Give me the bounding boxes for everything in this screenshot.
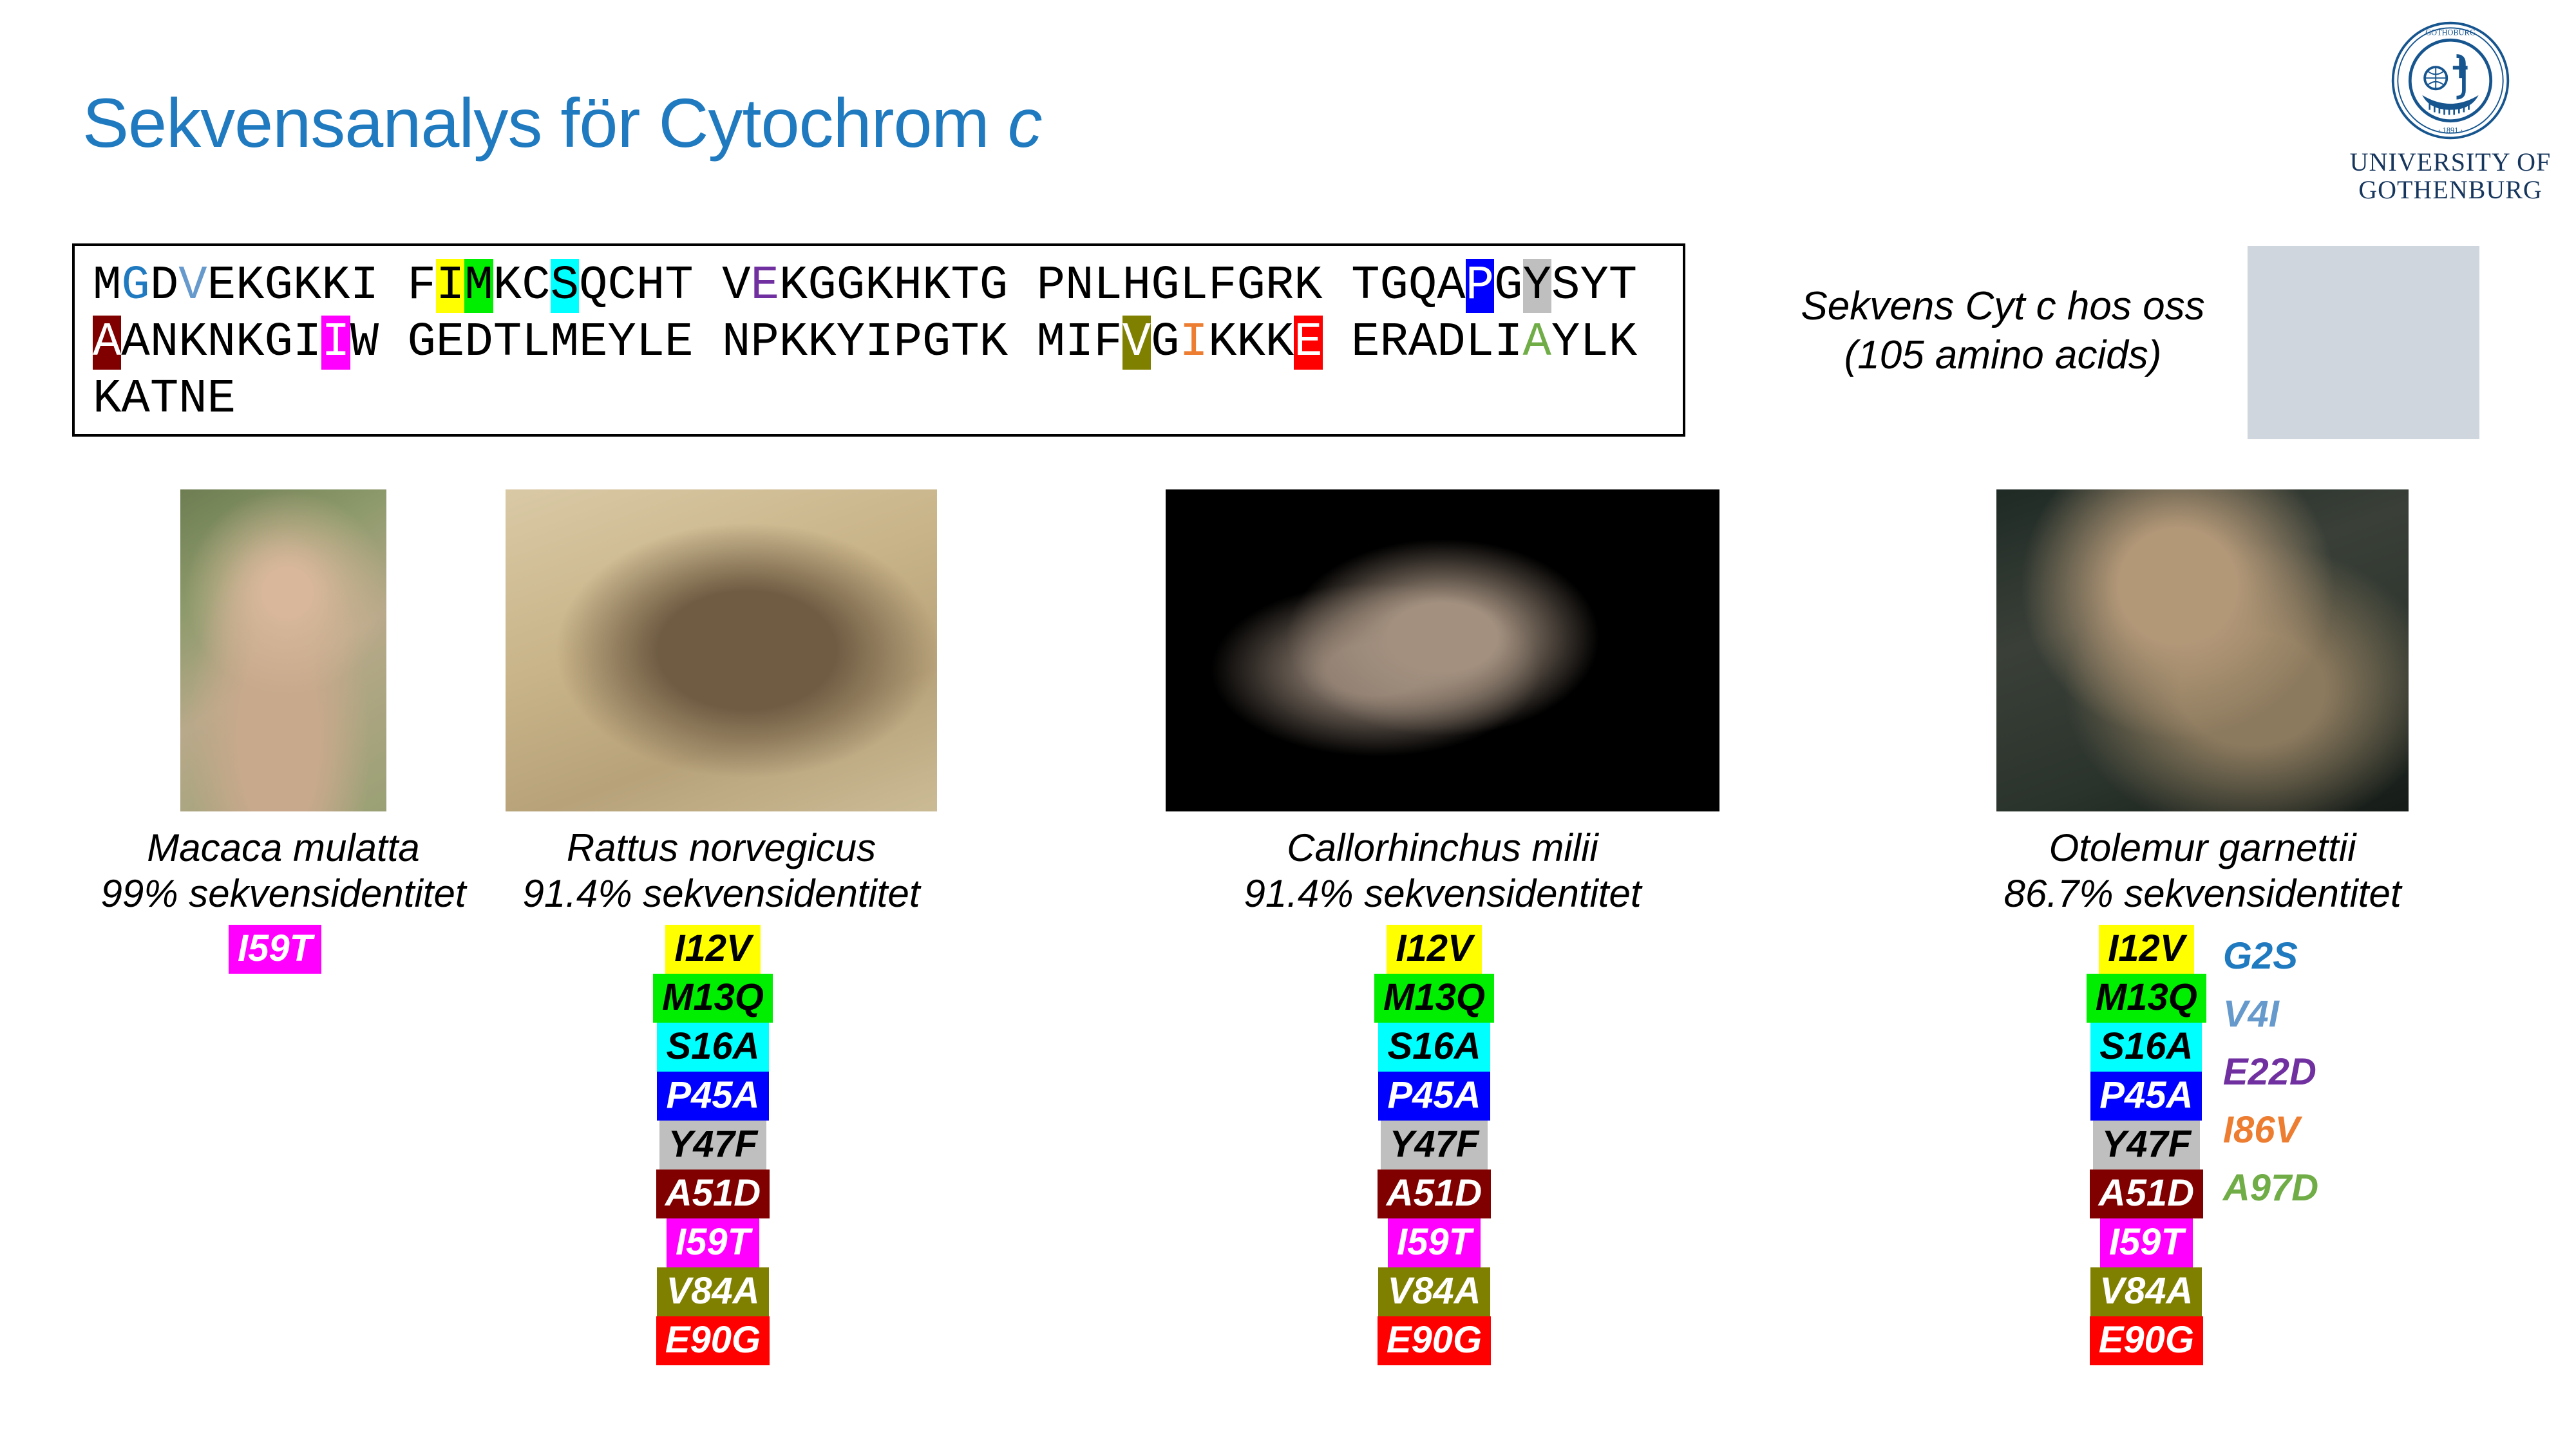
mutation-badge: M13Q bbox=[653, 974, 773, 1023]
sequence-segment: V bbox=[1122, 316, 1151, 370]
mutation-badge: P45A bbox=[1378, 1072, 1490, 1121]
sequence-segment: M bbox=[93, 259, 121, 313]
page-title-text: Sekvensanalys för Cytochrom bbox=[82, 84, 1008, 162]
sequence-line-3: KATNE bbox=[93, 371, 1683, 428]
sequence-segment: E bbox=[751, 259, 779, 313]
mutation-badge: I59T bbox=[229, 925, 321, 974]
rattus-norvegicus-photo bbox=[506, 489, 937, 811]
svg-text:· 1891 ·: · 1891 · bbox=[2438, 126, 2463, 135]
mutation-label: A97D bbox=[2223, 1159, 2318, 1217]
species-latin-name: Callorhinchus milii bbox=[1095, 826, 1790, 871]
sequence-segment: G bbox=[1494, 259, 1522, 313]
mutation-badge: P45A bbox=[2090, 1072, 2202, 1121]
species-column-rattus-norvegicus: Rattus norvegicus 91.4% sekvensidentitet… bbox=[399, 489, 1043, 1365]
mutation-list-3: I12VM13QS16AP45AY47FA51DI59TV84AE90G bbox=[2087, 925, 2206, 1365]
sequence-segment: KATNE bbox=[93, 372, 236, 426]
sequence-segment: ERADLI bbox=[1323, 316, 1523, 370]
sequence-segment: W GEDTLMEYLE NPKKYIPGTK MIF bbox=[350, 316, 1122, 370]
mutation-badge: Y47F bbox=[1381, 1121, 1488, 1170]
mutation-badge: V84A bbox=[657, 1267, 768, 1316]
mutation-label: V4I bbox=[2223, 985, 2318, 1043]
mutation-list-1: I12VM13QS16AP45AY47FA51DI59TV84AE90G bbox=[653, 925, 773, 1365]
species-name-3: Otolemur garnettii 86.7% sekvensidentite… bbox=[1855, 826, 2550, 917]
sequence-caption-line-2: (105 amino acids) bbox=[1758, 331, 2248, 380]
university-logo: GOTHOBURG · 1891 · UNIVERSITY OF GOTHENB… bbox=[2344, 19, 2557, 204]
sequence-segment: EKGKKI F bbox=[207, 259, 436, 313]
species-identity: 91.4% sekvensidentitet bbox=[1095, 871, 1790, 917]
sequence-segment: G bbox=[121, 259, 149, 313]
mutation-badge: M13Q bbox=[1374, 974, 1494, 1023]
sequence-segment: I bbox=[321, 316, 350, 370]
logo-line-2: GOTHENBURG bbox=[2344, 176, 2557, 204]
mutation-badge: V84A bbox=[1378, 1267, 1490, 1316]
mutation-label: E22D bbox=[2223, 1043, 2318, 1101]
extra-mutation-list-3: G2SV4IE22DI86VA97D bbox=[2223, 927, 2318, 1217]
university-seal-icon: GOTHOBURG · 1891 · bbox=[2389, 19, 2512, 142]
page-title-italic: c bbox=[1008, 84, 1042, 162]
sequence-caption: Sekvens Cyt c hos oss (105 amino acids) bbox=[1758, 282, 2248, 379]
mutation-list-0: I59T bbox=[229, 925, 321, 974]
sequence-segment: M bbox=[464, 259, 493, 313]
species-name-1: Rattus norvegicus 91.4% sekvensidentitet bbox=[399, 826, 1043, 917]
sequence-caption-line-1: Sekvens Cyt c hos oss bbox=[1758, 282, 2248, 331]
sequence-segment: YLK bbox=[1551, 316, 1637, 370]
sequence-segment: G bbox=[1151, 316, 1179, 370]
sequence-line-1: MGDVEKGKKI FIMKCSQCHT VEKGGKHKTG PNLHGLF… bbox=[93, 258, 1683, 314]
mutation-badge: Y47F bbox=[659, 1121, 767, 1170]
species-name-2: Callorhinchus milii 91.4% sekvensidentit… bbox=[1095, 826, 1790, 917]
mutation-badge: A51D bbox=[1378, 1170, 1491, 1218]
mutation-badge: S16A bbox=[1378, 1023, 1490, 1072]
mutation-badge: E90G bbox=[656, 1316, 770, 1365]
species-column-callorhinchus-milii: Callorhinchus milii 91.4% sekvensidentit… bbox=[1095, 489, 1790, 1365]
sequence-segment: A bbox=[1522, 316, 1551, 370]
sequence-segment: KGGKHKTG PNLHGLFGRK TGQA bbox=[779, 259, 1466, 313]
sequence-segment: Y bbox=[1523, 259, 1551, 313]
sequence-segment: I bbox=[436, 259, 464, 313]
sequence-segment: V bbox=[178, 259, 207, 313]
mutation-badge: I12V bbox=[665, 925, 760, 974]
species-latin-name: Otolemur garnettii bbox=[1855, 826, 2550, 871]
mutation-badge: Y47F bbox=[2093, 1121, 2201, 1170]
mutation-label: G2S bbox=[2223, 927, 2318, 985]
otolemur-garnettii-photo bbox=[1996, 489, 2409, 811]
mutation-badge: M13Q bbox=[2087, 974, 2206, 1023]
logo-line-1: UNIVERSITY OF bbox=[2344, 148, 2557, 176]
mutation-badge: E90G bbox=[2090, 1316, 2203, 1365]
species-identity: 91.4% sekvensidentitet bbox=[399, 871, 1043, 917]
sequence-segment: A bbox=[93, 316, 121, 370]
sequence-segment: ANKNKGI bbox=[121, 316, 321, 370]
sequence-segment: S bbox=[551, 259, 579, 313]
mutation-label: I86V bbox=[2223, 1101, 2318, 1159]
page-title: Sekvensanalys för Cytochrom c bbox=[82, 82, 1042, 163]
species-latin-name: Rattus norvegicus bbox=[399, 826, 1043, 871]
sequence-segment: KC bbox=[493, 259, 551, 313]
mutation-badge: S16A bbox=[657, 1023, 768, 1072]
callorhinchus-milii-photo bbox=[1166, 489, 1719, 811]
svg-text:GOTHOBURG: GOTHOBURG bbox=[2425, 28, 2476, 37]
species-column-otolemur-garnettii: Otolemur garnettii 86.7% sekvensidentite… bbox=[1855, 489, 2550, 1365]
species-identity: 86.7% sekvensidentitet bbox=[1855, 871, 2550, 917]
university-logo-text: UNIVERSITY OF GOTHENBURG bbox=[2344, 148, 2557, 204]
mutation-badge: I12V bbox=[1387, 925, 1481, 974]
sequence-line-2: AANKNKGIIW GEDTLMEYLE NPKKYIPGTK MIFVGIK… bbox=[93, 314, 1683, 371]
sequence-segment: SYT bbox=[1551, 259, 1637, 313]
mutation-badge: V84A bbox=[2090, 1267, 2202, 1316]
macaca-mulatta-photo bbox=[180, 489, 386, 811]
mutation-badge: I59T bbox=[1388, 1218, 1481, 1267]
mutation-badge: S16A bbox=[2090, 1023, 2202, 1072]
mutation-badge: A51D bbox=[656, 1170, 770, 1218]
mutation-badge: E90G bbox=[1378, 1316, 1491, 1365]
person-photo bbox=[2248, 246, 2479, 439]
mutation-badge: I12V bbox=[2099, 925, 2193, 974]
mutation-badge: I59T bbox=[2100, 1218, 2193, 1267]
sequence-segment: I bbox=[1180, 316, 1208, 370]
sequence-segment: QCHT V bbox=[579, 259, 750, 313]
sequence-segment: D bbox=[150, 259, 178, 313]
mutation-list-2: I12VM13QS16AP45AY47FA51DI59TV84AE90G bbox=[1374, 925, 1494, 1365]
mutation-badge: I59T bbox=[667, 1218, 759, 1267]
sequence-box: MGDVEKGKKI FIMKCSQCHT VEKGGKHKTG PNLHGLF… bbox=[72, 243, 1685, 437]
sequence-segment: P bbox=[1466, 259, 1494, 313]
mutation-badge: A51D bbox=[2090, 1170, 2203, 1218]
sequence-segment: E bbox=[1294, 316, 1322, 370]
sequence-segment: KKK bbox=[1208, 316, 1294, 370]
mutation-badge: P45A bbox=[657, 1072, 768, 1121]
